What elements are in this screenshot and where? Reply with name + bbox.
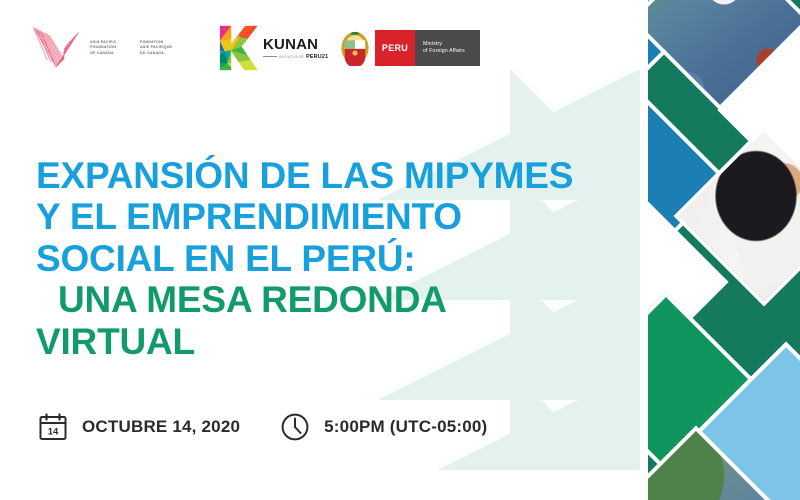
event-time-text: 5:00PM (UTC-05:00) (324, 417, 487, 437)
event-time: 5:00PM (UTC-05:00) (280, 412, 487, 442)
apfc-mark-icon (30, 22, 82, 74)
peru-ministry-line-2: of Foreign Affairs (423, 48, 473, 55)
apfc-wordmark: ASIA PACIFIC FOUNDATION OF CANADA FONDAT… (90, 40, 180, 57)
apfc-text-fr: FONDATION ASIE PACIFIQUE DU CANADA (140, 40, 180, 57)
photo-collage-panel (648, 0, 800, 500)
peru-country-label: PERU (382, 43, 408, 53)
kunan-wordmark: KUNAN (263, 37, 318, 52)
event-date: 14 OCTUBRE 14, 2020 (38, 412, 240, 442)
event-headline: EXPANSIÓN DE LAS MIPYMES Y EL EMPRENDIMI… (36, 155, 636, 362)
peru-ministry-line-1: Ministry (423, 41, 473, 48)
peru-country-block: PERU (375, 30, 415, 66)
headline-line-1: EXPANSIÓN DE LAS MIPYMES (36, 155, 636, 196)
event-meta-row: 14 OCTUBRE 14, 2020 5:00PM (UTC-05:00) (38, 412, 487, 442)
headline-line-5: VIRTUAL (36, 321, 636, 362)
apfc-text-en: ASIA PACIFIC FOUNDATION OF CANADA (90, 40, 130, 57)
calendar-day-number: 14 (48, 427, 59, 438)
kunan-sub-brand: PERU21 (306, 54, 328, 60)
calendar-icon: 14 (38, 412, 68, 442)
kunan-sub-rule (263, 56, 277, 57)
headline-line-4: UNA MESA REDONDA (36, 279, 636, 320)
logo-kunan-peru: KUNAN INICIATIVA DE PERU21 (210, 22, 328, 74)
logo-peru-ministry-foreign-affairs: PERU Ministry of Foreign Affairs (338, 30, 480, 66)
peru-ministry-block: Ministry of Foreign Affairs (415, 30, 480, 66)
logo-asia-pacific-foundation-of-canada: ASIA PACIFIC FOUNDATION OF CANADA FONDAT… (30, 22, 180, 74)
peru-coat-of-arms-icon (338, 30, 372, 66)
event-poster: ASIA PACIFIC FOUNDATION OF CANADA FONDAT… (0, 0, 800, 500)
headline-line-3: SOCIAL EN EL PERÚ: (36, 238, 636, 279)
kunan-k-icon (210, 22, 258, 74)
event-date-text: OCTUBRE 14, 2020 (82, 417, 240, 437)
clock-icon (280, 412, 310, 442)
headline-line-2: Y EL EMPRENDIMIENTO (36, 196, 636, 237)
kunan-sub-label: INICIATIVA DE (279, 55, 304, 59)
sponsor-logo-bar: ASIA PACIFIC FOUNDATION OF CANADA FONDAT… (0, 0, 650, 100)
